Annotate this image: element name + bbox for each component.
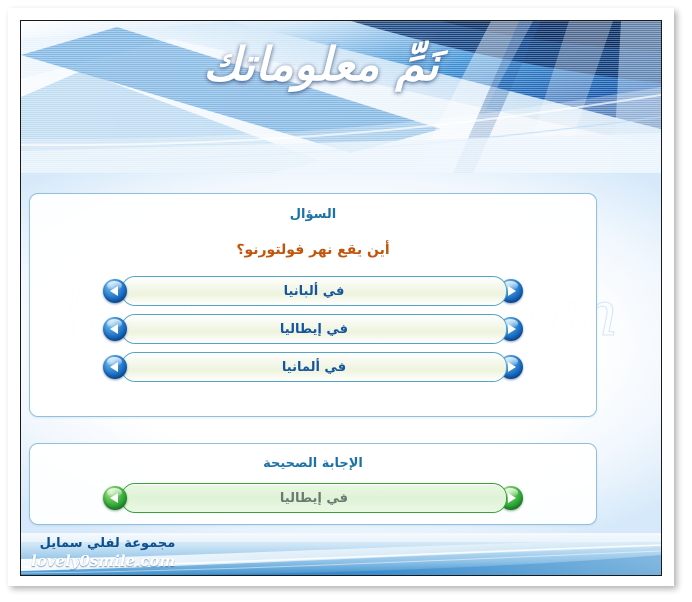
option-row[interactable]: في ألبانيا xyxy=(103,276,523,306)
option-pill[interactable]: في إيطاليا xyxy=(121,314,507,344)
answer-row: في إيطاليا xyxy=(103,483,523,513)
answer-panel: الإجابة الصحيحة في إيطاليا xyxy=(29,443,597,525)
play-left-icon xyxy=(103,486,127,510)
question-heading: السؤال xyxy=(30,207,596,222)
footer-banner: مجموعة لفلي سمايل lovely0smile.com xyxy=(21,533,661,575)
content-area: lovely0smile.com السؤال أين يقع نهر فولت… xyxy=(21,173,661,533)
option-row[interactable]: في إيطاليا xyxy=(103,314,523,344)
option-label: في ألبانيا xyxy=(284,285,345,298)
question-text: أين يقع نهر فولتورنو؟ xyxy=(30,242,596,258)
header-artwork xyxy=(21,21,661,173)
option-label: في ألمانيا xyxy=(282,361,346,374)
option-pill[interactable]: في ألمانيا xyxy=(121,352,507,382)
slide-inner: نَمِّ معلوماتك lovely0smile.com السؤال أ… xyxy=(20,20,662,576)
footer-artwork xyxy=(21,533,661,575)
play-left-icon xyxy=(103,279,127,303)
play-left-icon xyxy=(103,317,127,341)
option-row[interactable]: في ألمانيا xyxy=(103,352,523,382)
header-banner: نَمِّ معلوماتك xyxy=(21,21,661,173)
answer-pill: في إيطاليا xyxy=(121,483,507,513)
play-left-icon xyxy=(103,355,127,379)
answer-label: في إيطاليا xyxy=(280,492,348,505)
slide-frame: نَمِّ معلوماتك lovely0smile.com السؤال أ… xyxy=(8,8,674,586)
option-pill[interactable]: في ألبانيا xyxy=(121,276,507,306)
question-panel: السؤال أين يقع نهر فولتورنو؟ في ألبانيا xyxy=(29,193,597,417)
option-label: في إيطاليا xyxy=(280,323,348,336)
options-list: في ألبانيا في إيطاليا xyxy=(30,276,596,382)
answer-heading: الإجابة الصحيحة xyxy=(30,456,596,471)
